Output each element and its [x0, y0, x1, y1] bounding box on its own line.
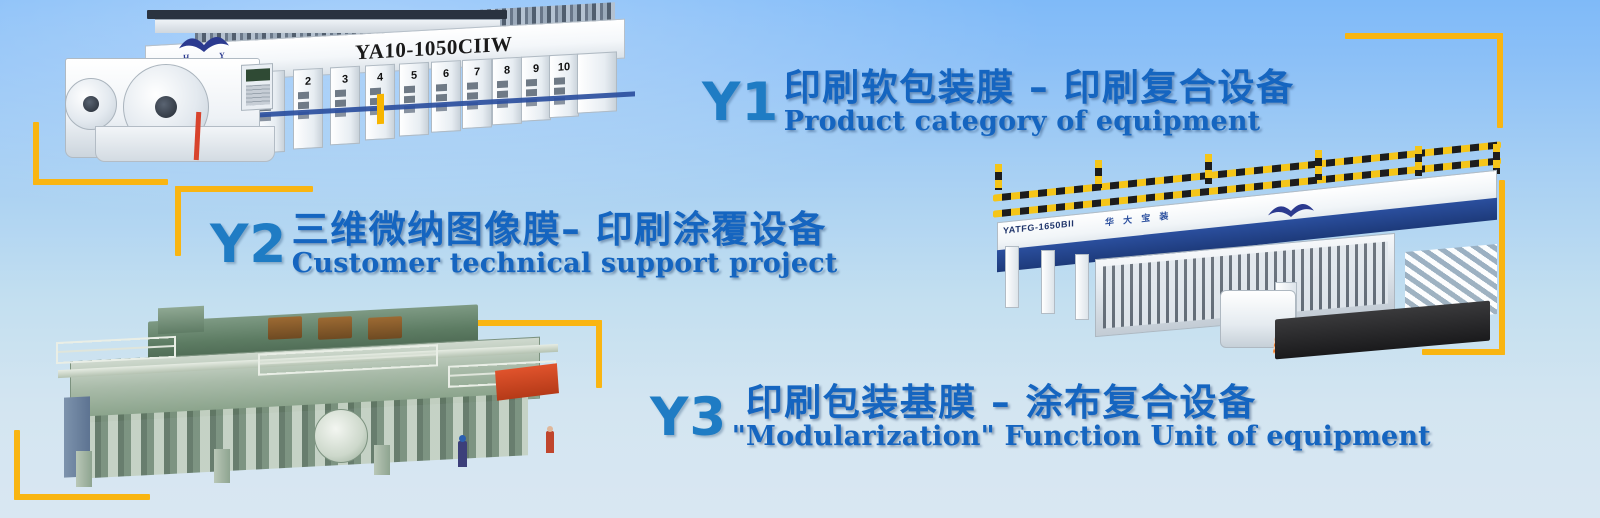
bracket-y2-left-vertical [33, 122, 39, 185]
coating-line-support-leg [374, 445, 390, 475]
entry-y3: Y3 印刷包装基膜 – 涂布复合设备 "Modularization" Func… [650, 383, 1431, 451]
worker-figure [458, 441, 467, 467]
coating-line-duct [158, 306, 204, 334]
worker-figure [546, 431, 554, 453]
entry-y3-code: Y3 [650, 387, 727, 448]
safety-railing-post [995, 164, 1002, 190]
safety-railing-post [1415, 146, 1422, 176]
print-unit: 7 [462, 58, 492, 129]
entry-y2: Y2 三维微纳图像膜– 印刷涂覆设备 Customer technical su… [210, 210, 838, 278]
entry-y3-title-cn: 印刷包装基膜 – 涂布复合设备 [732, 383, 1431, 423]
entry-y1: Y1 印刷软包装膜 – 印刷复合设备 Product category of e… [702, 68, 1294, 136]
entry-y1-subtitle-en: Product category of equipment [784, 108, 1295, 136]
coating-line-paper-reel [314, 409, 368, 463]
coating-line-support-leg [76, 451, 92, 487]
bracket-y3-vertical [596, 320, 602, 388]
machine-coating-line [18, 305, 578, 495]
print-unit: 5 [399, 62, 429, 137]
control-panel-screen [246, 68, 270, 81]
print-unit: 8 [492, 57, 522, 126]
laminator-support-leg [1075, 254, 1089, 320]
entry-y3-text: 印刷包装基膜 – 涂布复合设备 "Modularization" Functio… [732, 383, 1431, 451]
bracket-y2-left-horizontal [33, 179, 168, 185]
entry-y1-title-cn: 印刷软包装膜 – 印刷复合设备 [784, 68, 1295, 108]
entry-y2-subtitle-en: Customer technical support project [292, 250, 838, 278]
coating-line-support-leg [214, 449, 230, 483]
press-top-deck-rail [147, 10, 507, 19]
safety-railing-post [1205, 154, 1212, 184]
print-unit: 10 [549, 54, 579, 119]
bracket-y2-stem-vertical [175, 186, 181, 256]
press-yellow-marker [377, 94, 384, 124]
coating-line-motor [368, 316, 402, 340]
press-reel-hub [155, 96, 177, 118]
print-unit: 6 [431, 60, 461, 133]
bracket-y1-horizontal [1345, 33, 1503, 39]
print-unit: 3 [330, 66, 360, 146]
safety-railing-post [1315, 150, 1322, 180]
press-exit-unit [577, 51, 617, 113]
press-base-cabinet [95, 126, 275, 162]
entry-y1-code: Y1 [702, 72, 779, 133]
machine-laminator: YATFG-1650BII 华 大 宝 装 [975, 150, 1520, 365]
coating-line-motor [268, 316, 302, 340]
entry-y2-text: 三维微纳图像膜– 印刷涂覆设备 Customer technical suppo… [292, 210, 838, 278]
entry-y3-subtitle-en: "Modularization" Function Unit of equipm… [732, 423, 1431, 451]
product-category-banner: H Y YA10-1050CIIW 1 2 3 4 5 6 7 8 9 10 [0, 0, 1600, 518]
control-panel-keypad [246, 84, 270, 105]
bracket-y2-stem-horizontal [175, 186, 313, 192]
entry-y1-text: 印刷软包装膜 – 印刷复合设备 Product category of equi… [784, 68, 1295, 136]
press-reel-small-hub [83, 96, 99, 112]
coating-line-motor [318, 316, 352, 340]
entry-y2-code: Y2 [210, 214, 287, 275]
entry-y2-title-cn: 三维微纳图像膜– 印刷涂覆设备 [292, 210, 838, 250]
safety-railing-post [1095, 160, 1102, 188]
laminator-support-leg [1005, 246, 1019, 308]
bracket-y1-vertical [1497, 33, 1503, 128]
coating-line-red-unit [495, 363, 559, 400]
laminator-support-leg [1041, 250, 1055, 314]
press-control-panel [241, 63, 273, 111]
print-unit: 9 [521, 55, 551, 122]
machine-gravure-press: H Y YA10-1050CIIW 1 2 3 4 5 6 7 8 9 10 [55, 6, 600, 176]
